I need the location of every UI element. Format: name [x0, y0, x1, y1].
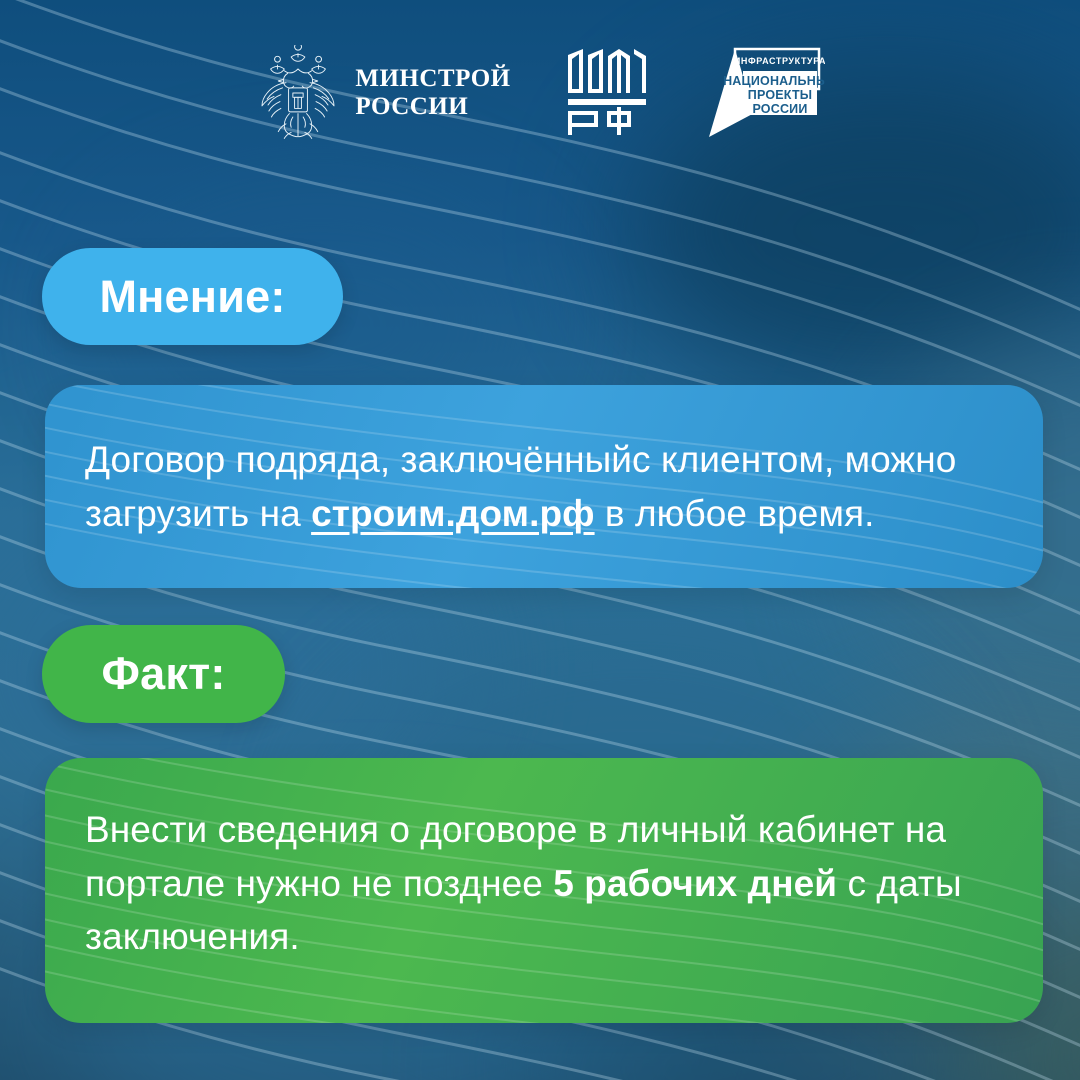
fact-highlight-deadline: 5 рабочих дней: [553, 863, 837, 904]
minstroy-logo: МИНСТРОЙ РОССИИ: [255, 45, 510, 141]
minstroy-line-2: РОССИИ: [355, 93, 510, 121]
dom-rf-logo-icon: [565, 47, 649, 139]
fact-card-text: Внести сведения о договоре в личный каби…: [85, 803, 1003, 964]
poster-canvas: МИНСТРОЙ РОССИИ: [0, 0, 1080, 1080]
opinion-card: Договор подряда, заключённыйс клиентом, …: [45, 385, 1043, 588]
opinion-text-part-3: в любое время.: [595, 493, 875, 534]
opinion-card-text: Договор подряда, заключённыйс клиентом, …: [85, 433, 1003, 540]
opinion-badge: Мнение:: [42, 248, 343, 345]
svg-text:НАЦИОНАЛЬНЫЕ: НАЦИОНАЛЬНЫЕ: [723, 74, 825, 88]
fact-card: Внести сведения о договоре в личный каби…: [45, 758, 1043, 1023]
svg-text:ИНФРАСТРУКТУРА: ИНФРАСТРУКТУРА: [733, 56, 824, 66]
header-logo-bar: МИНСТРОЙ РОССИИ: [0, 38, 1080, 148]
stroim-dom-rf-link[interactable]: строим.дом.рф: [311, 493, 594, 534]
russian-coat-of-arms-icon: [255, 45, 341, 141]
svg-text:ПРОЕКТЫ: ПРОЕКТЫ: [747, 88, 811, 102]
national-projects-logo-icon: ИНФРАСТРУКТУРА НАЦИОНАЛЬНЫЕ ПРОЕКТЫ РОСС…: [699, 37, 825, 149]
minstroy-wordmark: МИНСТРОЙ РОССИИ: [355, 65, 510, 121]
fact-badge: Факт:: [42, 625, 285, 723]
minstroy-line-1: МИНСТРОЙ: [355, 65, 510, 93]
svg-text:РОССИИ: РОССИИ: [752, 102, 807, 116]
